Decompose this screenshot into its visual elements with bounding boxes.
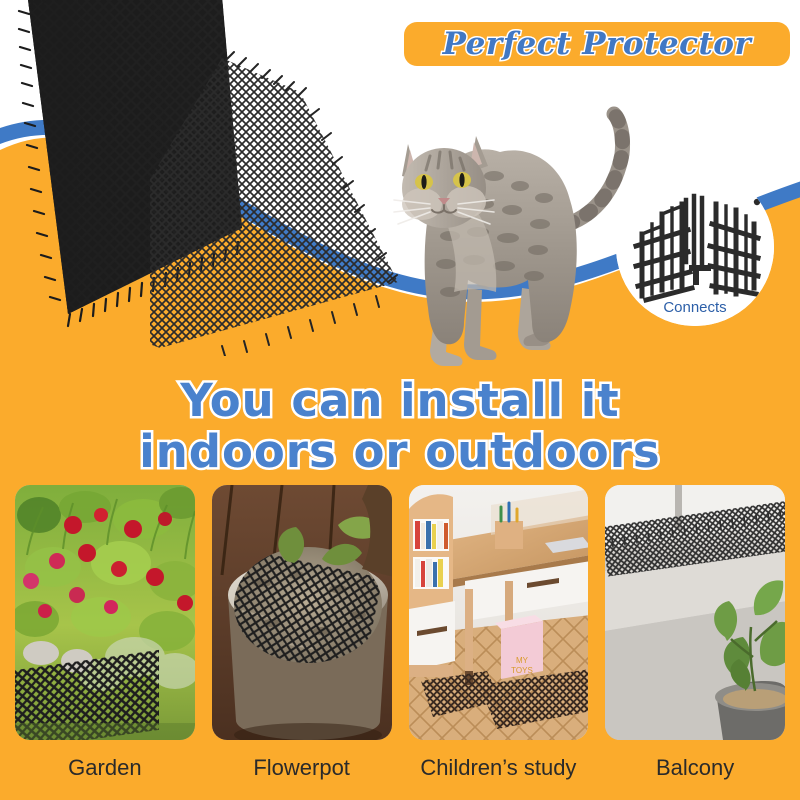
product-spike-mat-stack bbox=[10, 0, 410, 356]
caption-childrens-study: Children’s study bbox=[409, 746, 589, 790]
thumbnail-balcony[interactable] bbox=[605, 485, 785, 740]
connects-inset: Connects bbox=[616, 168, 774, 326]
caption-garden: Garden bbox=[15, 746, 195, 790]
usage-thumbnail-row: MY TOYS bbox=[15, 485, 785, 740]
headline: You can install it indoors or outdoors bbox=[0, 378, 800, 474]
cat-photo bbox=[372, 92, 652, 382]
svg-text:TOYS: TOYS bbox=[511, 666, 533, 675]
thumbnail-childrens-study[interactable]: MY TOYS bbox=[409, 485, 589, 740]
headline-line-2: indoors or outdoors bbox=[0, 429, 800, 474]
headline-line-1: You can install it bbox=[0, 378, 800, 423]
thumbnail-flowerpot[interactable] bbox=[212, 485, 392, 740]
svg-text:MY: MY bbox=[516, 656, 529, 665]
banner-title: Perfect Protector bbox=[443, 26, 752, 62]
caption-balcony: Balcony bbox=[605, 746, 785, 790]
product-infographic: Connects You can install it indoors or o… bbox=[0, 0, 800, 800]
usage-caption-row: Garden Flowerpot Children’s study Balcon… bbox=[15, 746, 785, 790]
title-banner: Perfect Protector bbox=[404, 22, 790, 66]
connects-label: Connects bbox=[616, 299, 774, 316]
caption-flowerpot: Flowerpot bbox=[212, 746, 392, 790]
thumbnail-garden[interactable] bbox=[15, 485, 195, 740]
